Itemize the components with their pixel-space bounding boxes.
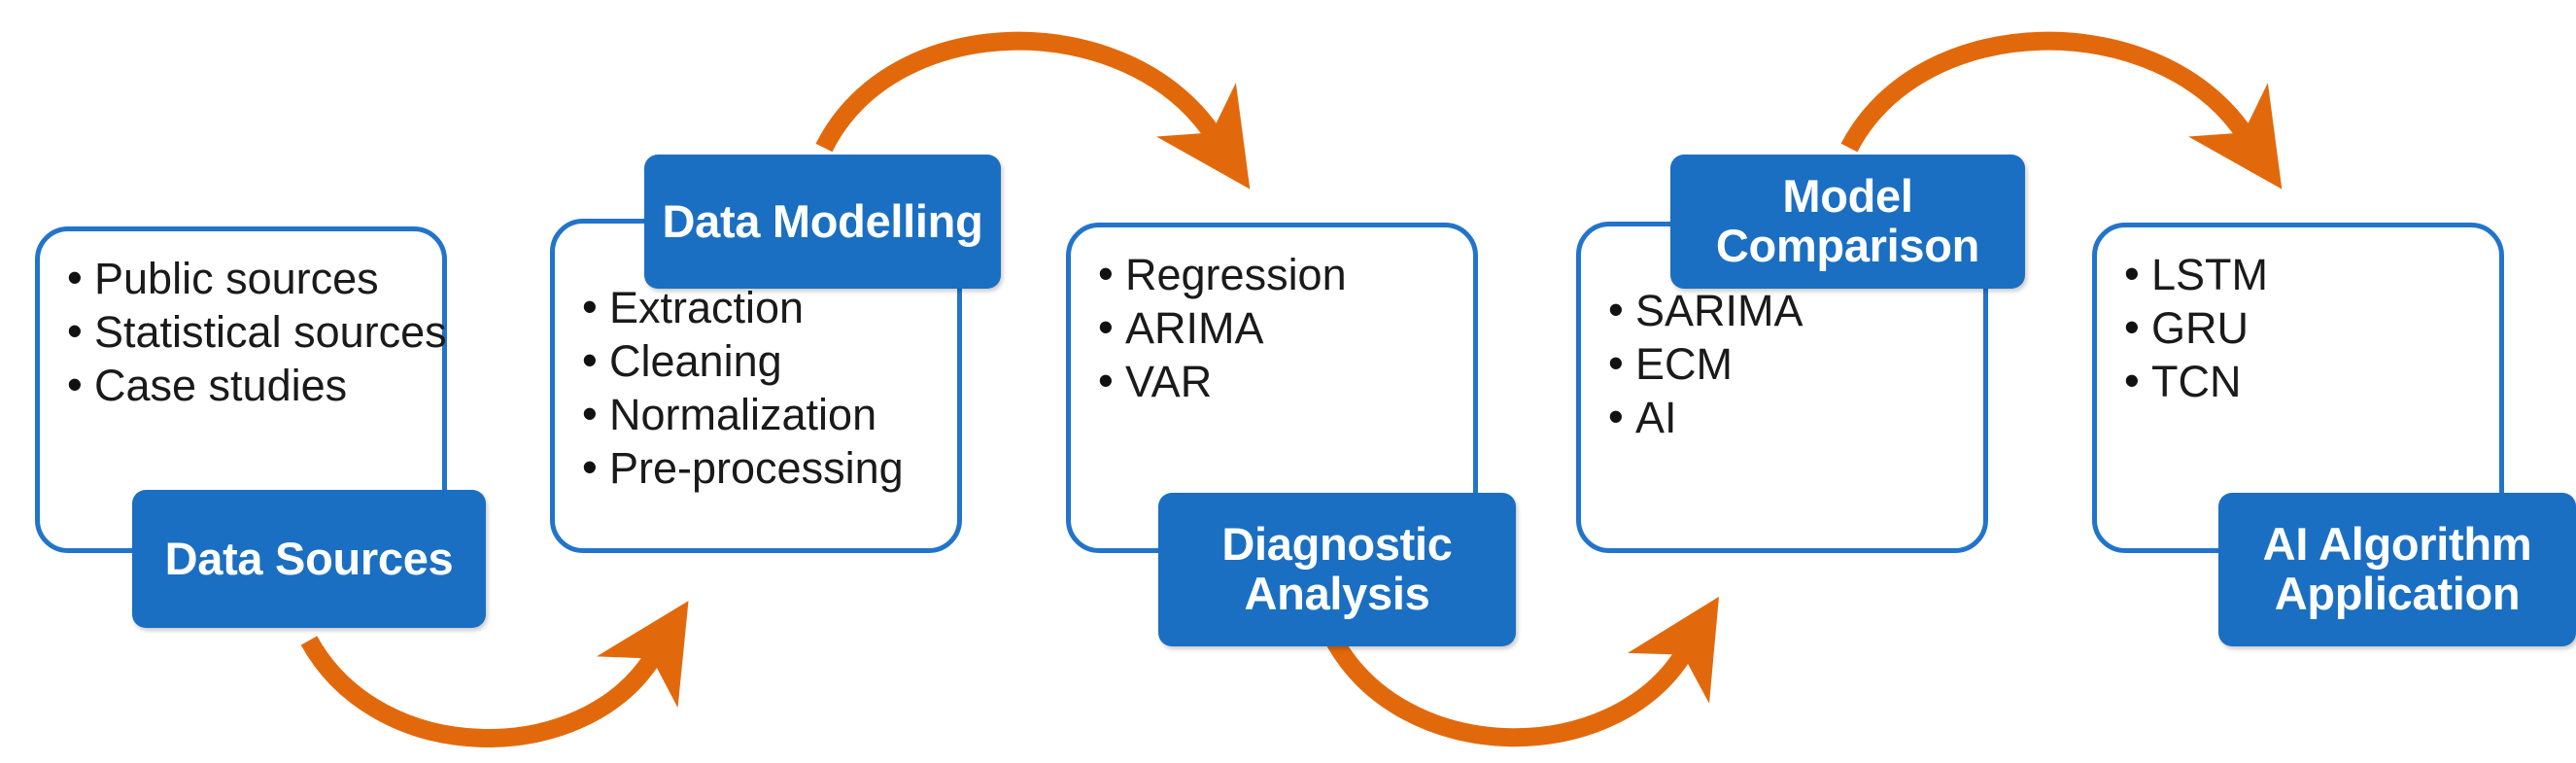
data-sources-label-box[interactable]: Data Sources bbox=[132, 490, 486, 628]
ai-algorithm-application-label: AI Algorithm Application bbox=[2253, 520, 2542, 619]
list-item: VAR bbox=[1096, 356, 1473, 409]
workflow-diagram: Public sources Statistical sources Case … bbox=[0, 0, 2576, 763]
arrow-model-comparison-to-ai-algorithm-application bbox=[1849, 41, 2245, 148]
list-item: ECM bbox=[1606, 338, 1983, 392]
diagnostic-analysis-item-list: Regression ARIMA VAR bbox=[1071, 227, 1473, 409]
list-item: GRU bbox=[2122, 302, 2499, 356]
list-item: SARIMA bbox=[1606, 285, 1983, 338]
list-item: ARIMA bbox=[1096, 302, 1473, 356]
model-comparison-label-box[interactable]: Model Comparison bbox=[1670, 155, 2025, 289]
list-item: Normalization bbox=[580, 389, 957, 442]
list-item: Statistical sources bbox=[65, 306, 442, 360]
arrow-data-sources-to-data-modelling bbox=[309, 641, 653, 738]
diagnostic-analysis-label-box[interactable]: Diagnostic Analysis bbox=[1158, 493, 1516, 646]
data-modelling-label-box[interactable]: Data Modelling bbox=[644, 155, 1001, 289]
arrow-diagnostic-analysis-to-model-comparison bbox=[1333, 639, 1684, 738]
list-item: Case studies bbox=[65, 360, 442, 413]
ai-algorithm-application-label-box[interactable]: AI Algorithm Application bbox=[2218, 493, 2576, 646]
list-item: Regression bbox=[1096, 249, 1473, 302]
list-item: Pre-processing bbox=[580, 442, 957, 496]
model-comparison-label: Model Comparison bbox=[1706, 172, 1989, 271]
ai-algorithm-application-item-list: LSTM GRU TCN bbox=[2097, 227, 2499, 409]
data-sources-label: Data Sources bbox=[155, 535, 464, 584]
list-item: Extraction bbox=[580, 282, 957, 335]
list-item: Public sources bbox=[65, 253, 442, 306]
list-item: TCN bbox=[2122, 356, 2499, 409]
data-sources-item-list: Public sources Statistical sources Case … bbox=[40, 231, 442, 413]
diagnostic-analysis-label: Diagnostic Analysis bbox=[1212, 520, 1461, 619]
data-modelling-label: Data Modelling bbox=[652, 197, 992, 247]
list-item: LSTM bbox=[2122, 249, 2499, 302]
list-item: AI bbox=[1606, 392, 1983, 445]
list-item: Cleaning bbox=[580, 335, 957, 389]
arrow-data-modelling-to-diagnostic-analysis bbox=[824, 41, 1213, 148]
